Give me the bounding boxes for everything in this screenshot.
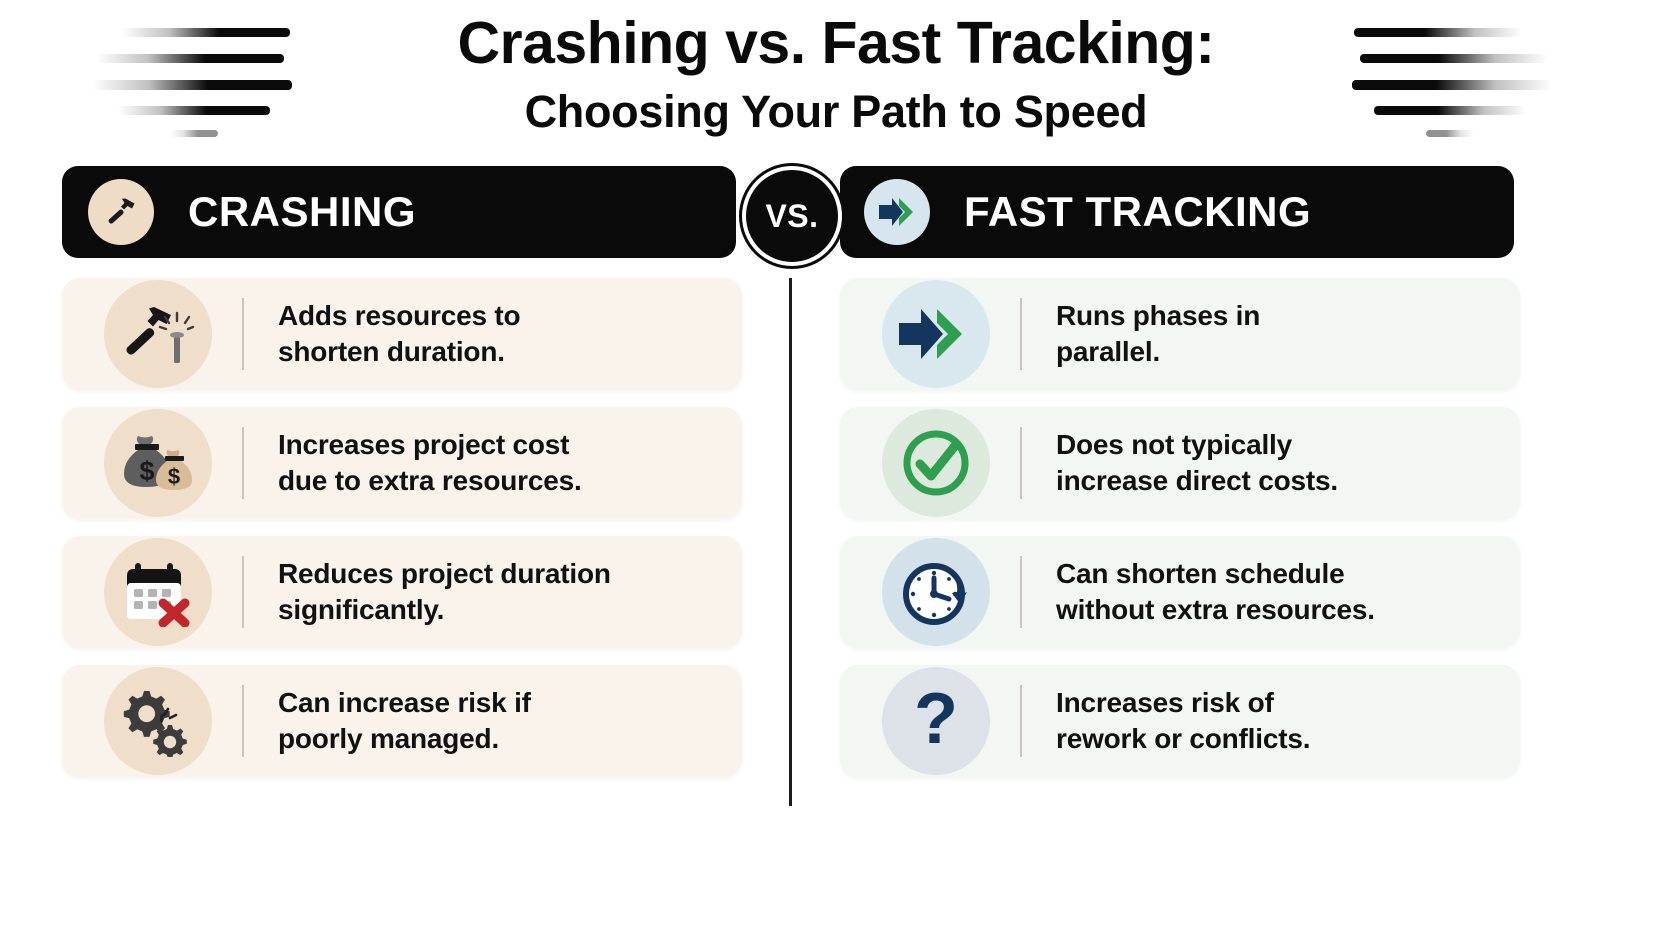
- column-divider: [789, 278, 792, 806]
- row-separator: [242, 685, 244, 757]
- list-item-text: Does not typically increase direct costs…: [1056, 427, 1338, 499]
- list-item[interactable]: Runs phases in parallel.: [840, 278, 1520, 390]
- list-item[interactable]: ? Increases risk of rework or conflicts.: [840, 665, 1520, 777]
- list-item[interactable]: Reduces project duration significantly.: [62, 536, 742, 648]
- hammer-nail-icon: [104, 280, 212, 388]
- calendar-x-icon: [104, 538, 212, 646]
- list-item-line2: shorten duration.: [278, 334, 520, 370]
- list-item[interactable]: Can shorten schedule without extra resou…: [840, 536, 1520, 648]
- svg-text:?: ?: [914, 681, 958, 759]
- list-item-text: Increases risk of rework or conflicts.: [1056, 685, 1310, 757]
- row-separator: [242, 298, 244, 370]
- double-arrow-icon: [864, 179, 930, 245]
- list-item-line1: Does not typically: [1056, 429, 1292, 460]
- list-item-line2: increase direct costs.: [1056, 463, 1338, 499]
- compare-bar-crashing-label: CRASHING: [188, 188, 416, 236]
- row-separator: [1020, 556, 1022, 628]
- broken-gears-icon: [104, 667, 212, 775]
- list-item-line2: without extra resources.: [1056, 592, 1375, 628]
- list-item-line1: Reduces project duration: [278, 558, 611, 589]
- column-crashing: Adds resources to shorten duration. $ $ …: [62, 278, 742, 794]
- row-separator: [242, 427, 244, 499]
- money-bags-icon: $ $: [104, 409, 212, 517]
- list-item-text: Increases project cost due to extra reso…: [278, 427, 582, 499]
- row-separator: [1020, 685, 1022, 757]
- list-item[interactable]: Does not typically increase direct costs…: [840, 407, 1520, 519]
- list-item-text: Can shorten schedule without extra resou…: [1056, 556, 1375, 628]
- list-item-line1: Increases project cost: [278, 429, 569, 460]
- vs-badge: VS.: [742, 166, 842, 266]
- list-item-line2: due to extra resources.: [278, 463, 582, 499]
- list-item-text: Reduces project duration significantly.: [278, 556, 611, 628]
- list-item-line1: Can shorten schedule: [1056, 558, 1345, 589]
- compare-bar-fast-tracking-label: FAST TRACKING: [964, 188, 1311, 236]
- column-fast-tracking: Runs phases in parallel. Does not typica…: [840, 278, 1520, 794]
- row-separator: [1020, 298, 1022, 370]
- list-item-line1: Can increase risk if: [278, 687, 531, 718]
- list-item-line2: rework or conflicts.: [1056, 721, 1310, 757]
- list-item-text: Adds resources to shorten duration.: [278, 298, 520, 370]
- hammer-icon: [88, 179, 154, 245]
- list-item-line1: Adds resources to: [278, 300, 520, 331]
- svg-text:$: $: [168, 464, 180, 489]
- header: Crashing vs. Fast Tracking: Choosing You…: [0, 0, 1672, 158]
- list-item-line2: parallel.: [1056, 334, 1260, 370]
- list-item-line1: Increases risk of: [1056, 687, 1274, 718]
- list-item[interactable]: Adds resources to shorten duration.: [62, 278, 742, 390]
- list-item[interactable]: $ $ Increases project cost due to extra …: [62, 407, 742, 519]
- svg-text:$: $: [139, 456, 154, 486]
- question-mark-icon: ?: [882, 667, 990, 775]
- list-item-text: Runs phases in parallel.: [1056, 298, 1260, 370]
- row-separator: [1020, 427, 1022, 499]
- list-item-line2: poorly managed.: [278, 721, 531, 757]
- speed-lines-icon: [1322, 24, 1552, 134]
- compare-bar-crashing: CRASHING: [62, 166, 736, 258]
- row-separator: [242, 556, 244, 628]
- vs-badge-label: VS.: [765, 198, 818, 235]
- compare-bar-fast-tracking: FAST TRACKING: [840, 166, 1514, 258]
- list-item-line1: Runs phases in: [1056, 300, 1260, 331]
- clock-arrow-icon: [882, 538, 990, 646]
- list-item[interactable]: Can increase risk if poorly managed.: [62, 665, 742, 777]
- list-item-line2: significantly.: [278, 592, 611, 628]
- check-circle-icon: [882, 409, 990, 517]
- parallel-arrows-icon: [882, 280, 990, 388]
- list-item-text: Can increase risk if poorly managed.: [278, 685, 531, 757]
